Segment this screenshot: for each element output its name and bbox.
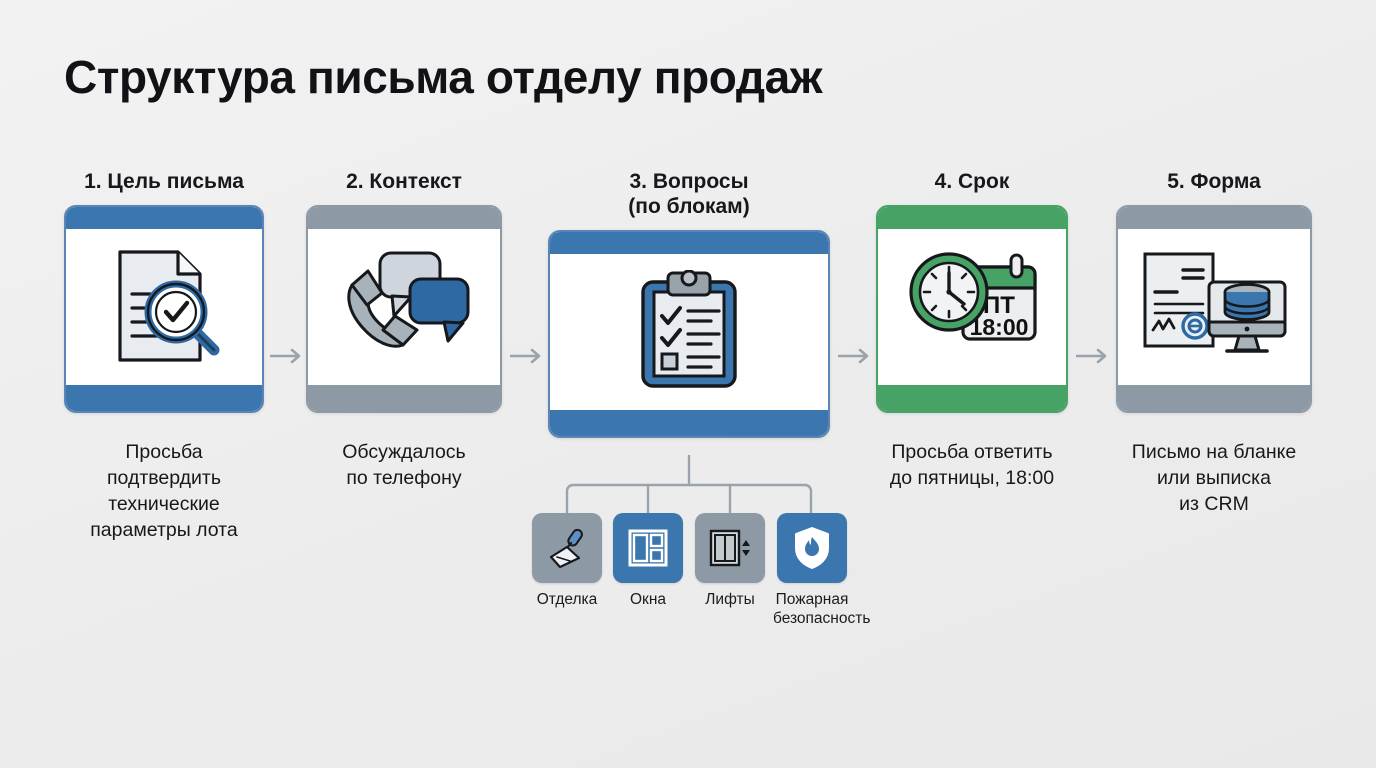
- step-2-bar-top: [308, 207, 500, 229]
- clipboard-checklist-icon: [635, 270, 743, 397]
- step-3-card[interactable]: [548, 230, 830, 438]
- arrow-step2-step3: [510, 348, 544, 364]
- subblock-pozharnaya-label: Пожарная безопасность: [773, 591, 851, 629]
- phone-chat-bubbles-icon: [334, 243, 474, 374]
- step-1-header: 1. Цель письма: [64, 170, 264, 195]
- step-2-caption: Обсуждалось по телефону: [306, 439, 502, 491]
- subblock-otdelka[interactable]: Отделка: [528, 513, 606, 610]
- step-5-bar-top: [1118, 207, 1310, 229]
- subblock-lifty[interactable]: Лифты: [691, 513, 769, 610]
- step-1-caption: Просьба подтвердить технические параметр…: [64, 439, 264, 544]
- trowel-icon: [544, 525, 590, 571]
- step-4: 4. Срок ПТ 18:00: [876, 170, 1068, 491]
- step-1-bar-top: [66, 207, 262, 229]
- step-4-card[interactable]: ПТ 18:00: [876, 205, 1068, 413]
- step-3: 3. Вопросы (по блокам): [548, 170, 830, 438]
- shield-flame-icon: [790, 525, 834, 571]
- step-2-bar-bottom: [308, 385, 500, 411]
- elevator-icon: [707, 526, 753, 570]
- step-4-bar-top: [878, 207, 1066, 229]
- subblock-pozharnaya-chip[interactable]: [777, 513, 847, 583]
- subblock-otdelka-chip[interactable]: [532, 513, 602, 583]
- subblock-lifty-chip[interactable]: [695, 513, 765, 583]
- step-2: 2. Контекст: [306, 170, 502, 491]
- subblock-lifty-label: Лифты: [691, 591, 769, 610]
- subblock-okna[interactable]: Окна: [609, 513, 687, 610]
- arrow-step1-step2: [270, 348, 304, 364]
- step-5-card[interactable]: [1116, 205, 1312, 413]
- arrow-step3-step4: [838, 348, 872, 364]
- step-5-caption: Письмо на бланке или выписка из CRM: [1116, 439, 1312, 517]
- subblock-okna-chip[interactable]: [613, 513, 683, 583]
- step-3-bar-top: [550, 232, 828, 254]
- subblock-okna-label: Окна: [609, 591, 687, 610]
- step-5-bar-bottom: [1118, 385, 1310, 411]
- step-4-caption: Просьба ответить до пятницы, 18:00: [876, 439, 1068, 491]
- letterhead-monitor-database-icon: [1139, 244, 1289, 373]
- step-1-bar-bottom: [66, 385, 262, 411]
- step-5-header: 5. Форма: [1116, 170, 1312, 195]
- step-2-card[interactable]: [306, 205, 502, 413]
- clock-calendar-icon: ПТ 18:00: [901, 243, 1043, 374]
- step-2-header: 2. Контекст: [306, 170, 502, 195]
- subblock-otdelka-label: Отделка: [528, 591, 606, 610]
- slide-canvas: Структура письма отделу продаж 1. Цель п…: [0, 0, 1376, 768]
- step-3-header: 3. Вопросы (по блокам): [548, 170, 830, 220]
- step-1-card[interactable]: [64, 205, 264, 413]
- step-3-bar-bottom: [550, 410, 828, 436]
- step-4-bar-bottom: [878, 385, 1066, 411]
- subblock-pozharnaya[interactable]: Пожарная безопасность: [773, 513, 851, 629]
- window-icon: [626, 526, 670, 570]
- tree-connector-lines: [505, 455, 885, 515]
- step-1: 1. Цель письма: [64, 170, 264, 543]
- arrow-step4-step5: [1076, 348, 1110, 364]
- document-magnifier-check-icon: [98, 242, 230, 375]
- page-title: Структура письма отделу продаж: [64, 50, 822, 104]
- step-4-header: 4. Срок: [876, 170, 1068, 195]
- step-5: 5. Форма: [1116, 170, 1312, 517]
- subblocks-tree: Отделка Окна: [505, 455, 885, 655]
